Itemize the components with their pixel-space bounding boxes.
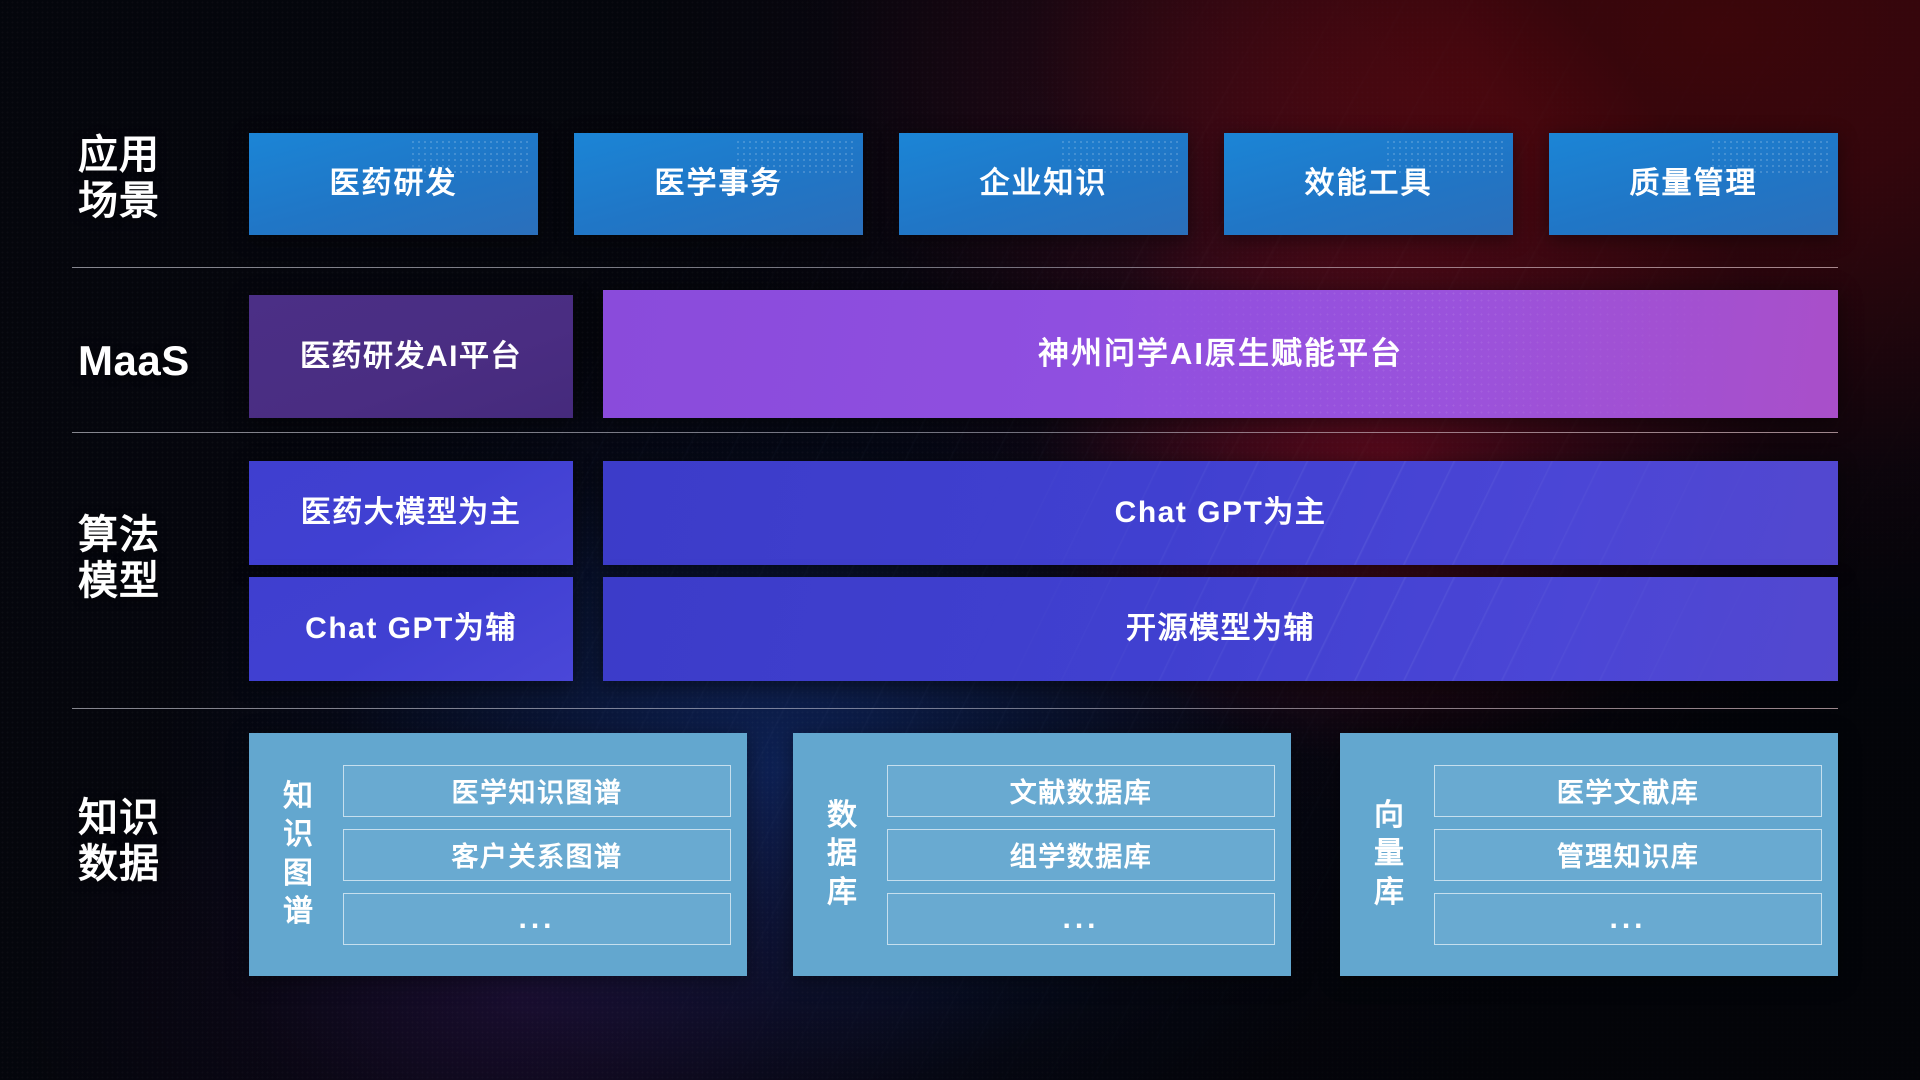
scenario-box-efficiency-tools[interactable]: 效能工具: [1224, 133, 1513, 235]
scenario-label-medical-affairs: 医学事务: [655, 166, 783, 202]
row-label-algorithm-line1: 算法: [78, 512, 228, 558]
slide-canvas: 应用 场景 医药研发 医学事务 企业知识 效能工具 质量管理 MaaS 医药研发…: [0, 0, 1920, 1080]
knowledge-item-omics-database[interactable]: 组学数据库: [887, 829, 1275, 881]
scenario-box-enterprise-knowledge[interactable]: 企业知识: [899, 133, 1188, 235]
knowledge-item-medical-knowledge-graph[interactable]: 医学知识图谱: [343, 765, 731, 817]
algo-label-medical-llm-primary: 医药大模型为主: [301, 495, 522, 531]
scenario-box-medical-affairs[interactable]: 医学事务: [574, 133, 863, 235]
knowledge-group-title-vector-store: 向量库: [1358, 797, 1420, 912]
scenario-label-efficiency-tools: 效能工具: [1305, 166, 1433, 202]
row-label-application-scenario: 应用 场景: [78, 132, 228, 225]
algo-box-medical-llm-primary[interactable]: 医药大模型为主: [249, 461, 573, 565]
algo-box-chatgpt-secondary[interactable]: Chat GPT为辅: [249, 577, 573, 681]
knowledge-group-title-knowledge-graph: 知识图谱: [267, 778, 329, 932]
knowledge-group-database[interactable]: 数据库 文献数据库 组学数据库 ...: [793, 733, 1291, 976]
knowledge-item-list-vector-store: 医学文献库 管理知识库 ...: [1420, 765, 1822, 945]
row-label-algorithm-model: 算法 模型: [78, 512, 228, 605]
knowledge-item-customer-relation-graph[interactable]: 客户关系图谱: [343, 829, 731, 881]
knowledge-item-list-knowledge-graph: 医学知识图谱 客户关系图谱 ...: [329, 765, 731, 945]
algo-label-opensource-secondary: 开源模型为辅: [1126, 611, 1315, 647]
maas-label-drug-rd-ai-platform: 医药研发AI平台: [300, 339, 522, 375]
divider-maas-algorithm: [72, 432, 1838, 433]
row-label-maas: MaaS: [78, 337, 228, 386]
row-label-algorithm-line2: 模型: [78, 558, 228, 604]
scenario-box-quality-management[interactable]: 质量管理: [1549, 133, 1838, 235]
knowledge-item-list-database: 文献数据库 组学数据库 ...: [873, 765, 1275, 945]
knowledge-group-knowledge-graph[interactable]: 知识图谱 医学知识图谱 客户关系图谱 ...: [249, 733, 747, 976]
maas-box-drug-rd-ai-platform[interactable]: 医药研发AI平台: [249, 295, 573, 418]
knowledge-item-medical-literature-store[interactable]: 医学文献库: [1434, 765, 1822, 817]
algo-box-opensource-secondary[interactable]: 开源模型为辅: [603, 577, 1838, 681]
row-label-knowledge-line1: 知识: [78, 795, 228, 841]
algo-box-chatgpt-primary[interactable]: Chat GPT为主: [603, 461, 1838, 565]
row-label-maas-text: MaaS: [78, 337, 228, 386]
algo-label-chatgpt-secondary: Chat GPT为辅: [305, 611, 517, 647]
row-label-application-line1: 应用: [78, 132, 228, 178]
knowledge-item-management-knowledge-store[interactable]: 管理知识库: [1434, 829, 1822, 881]
scenario-label-quality-management: 质量管理: [1630, 166, 1758, 202]
maas-box-shenzhou-wenxue-platform[interactable]: 神州问学AI原生赋能平台: [603, 290, 1838, 418]
knowledge-group-vector-store[interactable]: 向量库 医学文献库 管理知识库 ...: [1340, 733, 1838, 976]
divider-algorithm-knowledge: [72, 708, 1838, 709]
divider-application-maas: [72, 267, 1838, 268]
row-label-application-line2: 场景: [78, 178, 228, 224]
scenario-label-drug-rd: 医药研发: [330, 166, 458, 202]
scenario-box-drug-rd[interactable]: 医药研发: [249, 133, 538, 235]
knowledge-group-title-database: 数据库: [811, 797, 873, 912]
row-label-knowledge-line2: 数据: [78, 841, 228, 887]
knowledge-item-literature-database[interactable]: 文献数据库: [887, 765, 1275, 817]
knowledge-item-more-vector-store[interactable]: ...: [1434, 893, 1822, 945]
knowledge-item-more-knowledge-graph[interactable]: ...: [343, 893, 731, 945]
scenario-label-enterprise-knowledge: 企业知识: [980, 166, 1108, 202]
maas-label-shenzhou-wenxue-platform: 神州问学AI原生赋能平台: [1038, 335, 1403, 372]
knowledge-item-more-database[interactable]: ...: [887, 893, 1275, 945]
row-label-knowledge-data: 知识 数据: [78, 795, 228, 888]
algo-label-chatgpt-primary: Chat GPT为主: [1115, 495, 1327, 531]
architecture-diagram: 应用 场景 医药研发 医学事务 企业知识 效能工具 质量管理 MaaS 医药研发…: [0, 0, 1920, 1080]
